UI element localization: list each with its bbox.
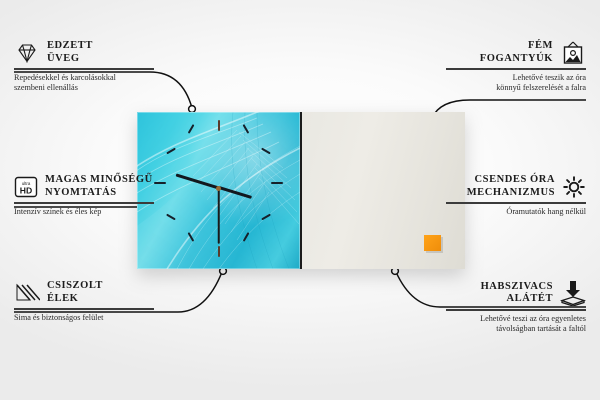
callout-description: Repedésekkel és karcolásokkal szembeni e…: [14, 73, 154, 94]
divider: [446, 202, 586, 204]
infographic-stage: EDZETT ÜVEG Repedésekkel és karcolásokka…: [0, 0, 600, 400]
tick-9: [154, 182, 166, 184]
callout-description: Óramutatók hang nélkül: [446, 207, 586, 218]
divider: [446, 309, 586, 311]
callout-description: Intenzív színek és éles kép: [14, 207, 154, 218]
callout-metal-handles: FÉM FOGANTYÚK Lehetővé teszik az óra kön…: [446, 40, 586, 94]
divider: [14, 202, 154, 204]
callout-description: Lehetővé teszik az óra könnyű felszerelé…: [446, 73, 586, 94]
callout-high-quality-print: ultra HD MAGAS MINŐSÉGŰ NYOMTATÁS Intenz…: [14, 174, 154, 217]
tick-12: [218, 120, 220, 131]
callout-title: MAGAS MINŐSÉGŰ NYOMTATÁS: [45, 174, 153, 199]
clock-back-panel: [300, 112, 465, 269]
divider: [14, 308, 154, 310]
gear-icon: [562, 175, 586, 199]
second-hand: [218, 188, 220, 244]
svg-text:HD: HD: [20, 185, 32, 195]
tick-6: [218, 246, 220, 257]
product-image: [137, 112, 463, 269]
callout-silent-mechanism: CSENDES ÓRA MECHANIZMUS Óramutatók hang …: [446, 174, 586, 217]
divider: [14, 68, 154, 70]
clock-face-panel: [137, 112, 300, 269]
polished-edges-icon: [14, 283, 40, 303]
foam-spacer-pad: [424, 235, 441, 251]
wall-hanger-icon: [560, 41, 586, 65]
clock-center-hub: [216, 186, 221, 191]
callout-description: Lehetővé teszi az óra egyenletes távolsá…: [446, 314, 586, 335]
foam-pad-icon: [560, 280, 586, 306]
diamond-icon: [14, 43, 40, 63]
callout-description: Sima és biztonságos felület: [14, 313, 154, 324]
callout-title: HABSZIVACS ALÁTÉT: [481, 281, 553, 306]
callout-foam-pad: HABSZIVACS ALÁTÉT Lehetővé teszi az óra …: [446, 280, 586, 335]
callout-polished-edges: CSISZOLT ÉLEK Sima és biztonságos felüle…: [14, 280, 154, 323]
tick-3: [271, 182, 283, 184]
ultra-hd-icon: ultra HD: [14, 176, 38, 198]
callout-title: FÉM FOGANTYÚK: [480, 40, 553, 65]
divider: [446, 68, 586, 70]
callout-title: EDZETT ÜVEG: [47, 40, 93, 65]
callout-title: CSISZOLT ÉLEK: [47, 280, 103, 305]
callout-title: CSENDES ÓRA MECHANIZMUS: [467, 174, 555, 199]
callout-tempered-glass: EDZETT ÜVEG Repedésekkel és karcolásokka…: [14, 40, 154, 94]
